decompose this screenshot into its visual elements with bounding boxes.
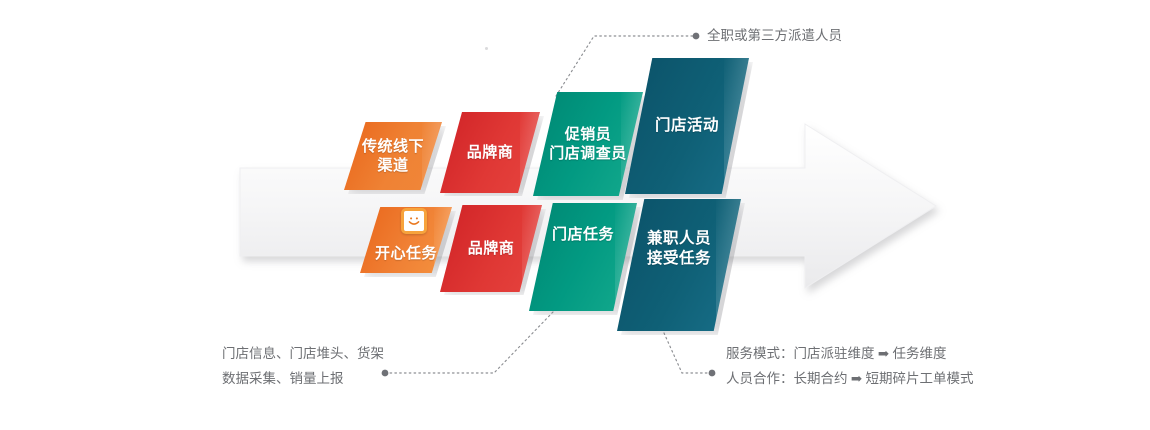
dust-speck <box>485 47 488 50</box>
annotation-staffing: 全职或第三方派遣人员 <box>707 24 842 49</box>
annotation-data-collection: 门店信息、门店堆头、货架 数据采集、销量上报 <box>222 342 384 392</box>
smiley-icon <box>401 208 427 234</box>
step-label: 门店任务 <box>552 225 614 244</box>
annotation-service-mode: 服务模式：门店派驻维度 ➡ 任务维度 人员合作：长期合约 ➡ 短期碎片工单模式 <box>726 342 974 392</box>
step-label: 促销员 门店调查员 <box>549 125 627 163</box>
diagram-canvas: 传统线下 渠道 品牌商 促销员 门店调查员 门店活动 开心任务 品牌商 门店任务 <box>0 0 1150 430</box>
step-label: 传统线下 渠道 <box>362 137 424 175</box>
step-label: 品牌商 <box>468 239 515 258</box>
step-label: 门店活动 <box>655 116 719 136</box>
step-label: 品牌商 <box>467 143 514 162</box>
step-label: 开心任务 <box>375 244 437 263</box>
step-label: 兼职人员 接受任务 <box>647 229 711 269</box>
